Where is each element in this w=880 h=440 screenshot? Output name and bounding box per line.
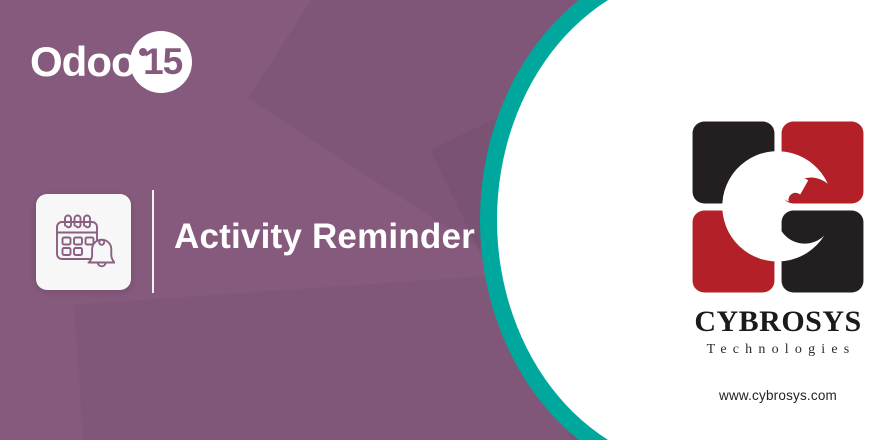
dot-icon <box>139 48 147 56</box>
feature-icon-card <box>36 194 131 290</box>
odoo-version-number: 15 <box>143 43 182 80</box>
calendar-bell-icon <box>53 213 115 271</box>
promo-banner: Odoo 15 <box>0 0 880 440</box>
odoo-wordmark: Odoo <box>30 41 136 83</box>
cybrosys-brand: CYBROSYS Technologies <box>688 118 868 357</box>
vertical-divider <box>152 190 154 293</box>
brand-name: CYBROSYS <box>688 307 868 337</box>
brand-url[interactable]: www.cybrosys.com <box>688 388 868 403</box>
odoo-logo: Odoo 15 <box>30 28 192 96</box>
odoo-version-badge: 15 <box>130 31 192 93</box>
page-title: Activity Reminder <box>174 216 475 258</box>
cybrosys-logo-icon <box>689 118 867 296</box>
brand-tagline: Technologies <box>688 343 868 357</box>
